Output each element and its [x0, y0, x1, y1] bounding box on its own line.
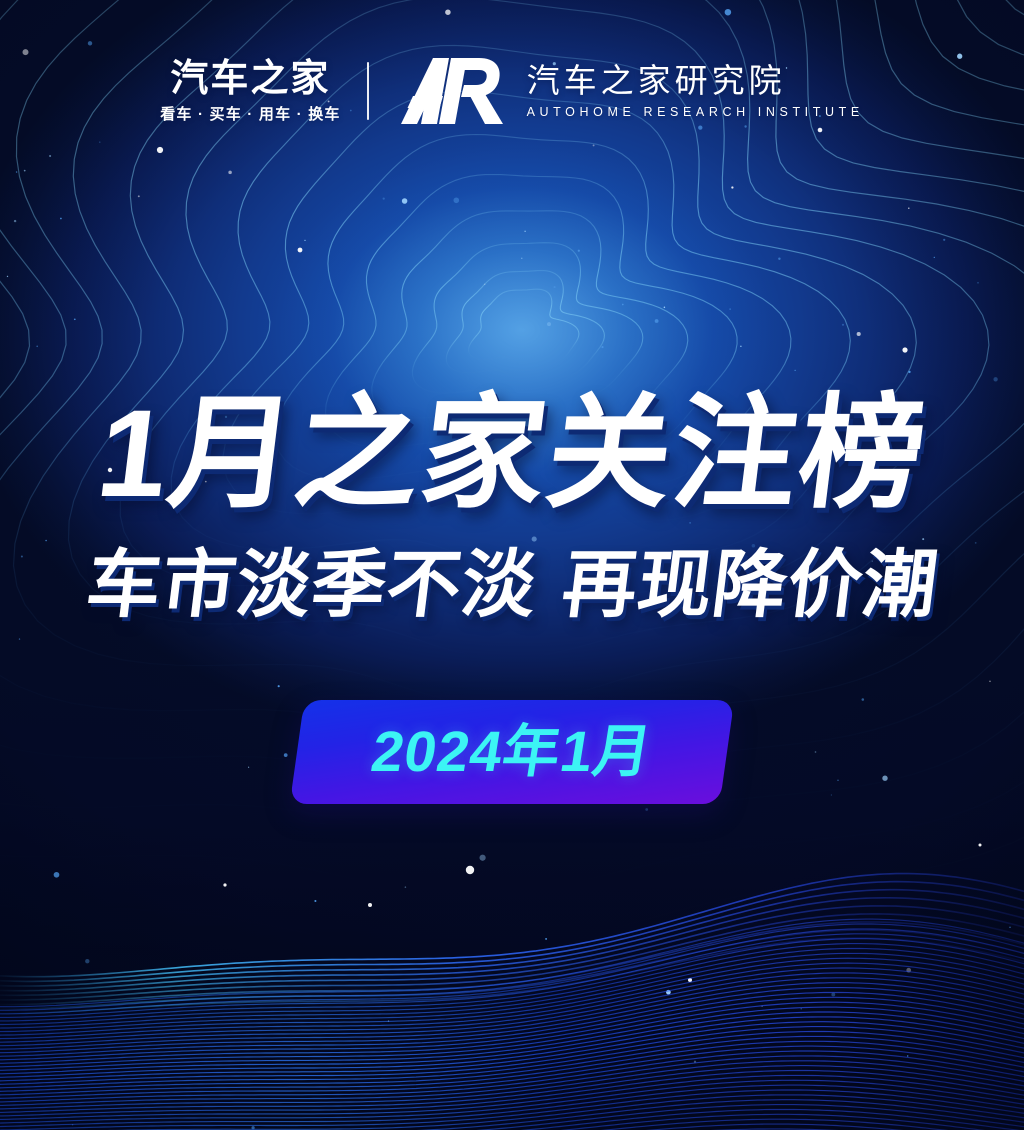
institute-name-en: AUTOHOME RESEARCH INSTITUTE [527, 106, 864, 119]
poster-canvas: 汽车之家 看车 · 买车 · 用车 · 换车 汽车之家研究院 [0, 0, 1024, 1130]
flowing-wave-lines-icon [0, 870, 1024, 1130]
date-badge[interactable]: 2024年1月 [297, 700, 727, 804]
autohome-wordmark-icon[interactable]: 汽车之家 看车 · 买车 · 用车 · 换车 [160, 60, 366, 122]
page-title: 1月之家关注榜 [91, 392, 933, 516]
date-badge-label: 2024年1月 [368, 724, 657, 781]
research-institute-brand[interactable]: 汽车之家研究院 AUTOHOME RESEARCH INSTITUTE [369, 54, 864, 128]
subtitle-part-1: 车市淡季不淡 [82, 548, 541, 622]
date-badge-wrapper: 2024年1月 [0, 700, 1024, 804]
institute-name-cn: 汽车之家研究院 [527, 64, 864, 99]
brand-left-tagline: 看车 · 买车 · 用车 · 换车 [160, 107, 340, 122]
ar-monogram-icon [399, 54, 511, 128]
main-title-block: 1月之家关注榜 [0, 392, 1024, 516]
header-brand-bar: 汽车之家 看车 · 买车 · 用车 · 换车 汽车之家研究院 [0, 46, 1024, 136]
subtitle-part-2: 再现降价潮 [558, 548, 942, 622]
subtitle-block: 车市淡季不淡再现降价潮 [0, 548, 1024, 622]
brand-left-name: 汽车之家 [170, 60, 330, 98]
